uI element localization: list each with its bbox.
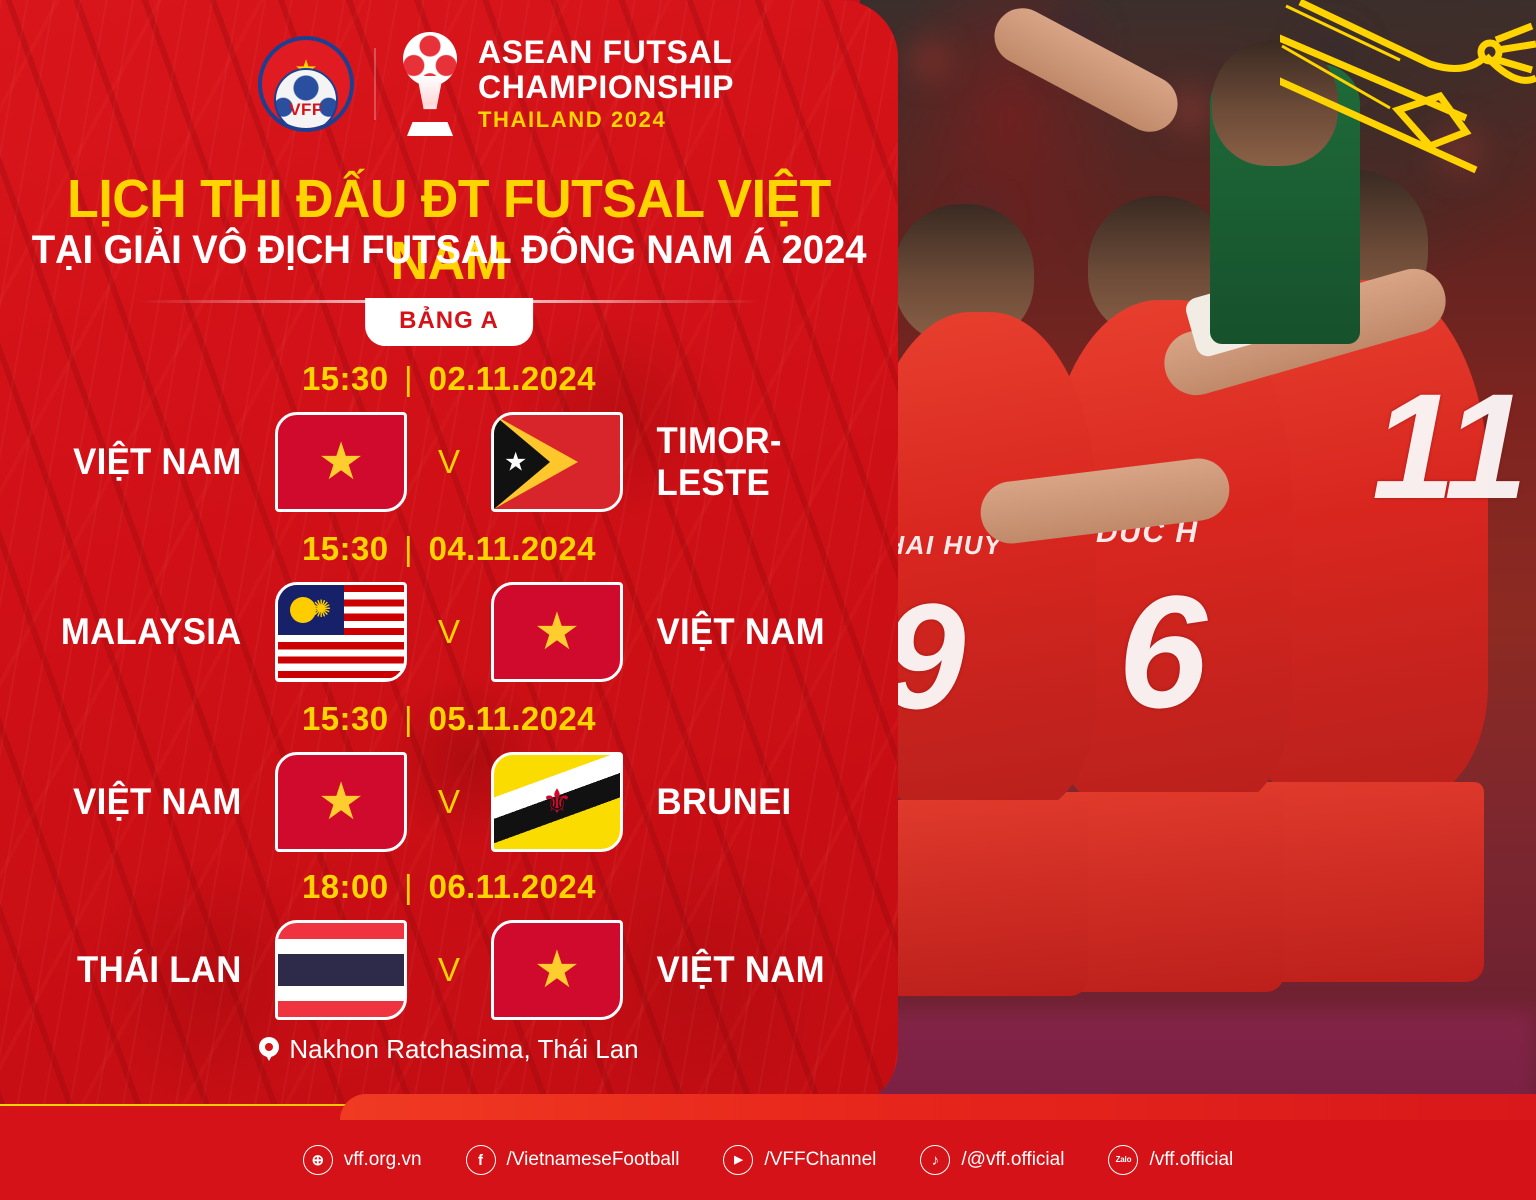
logo-divider [374, 48, 376, 120]
match-date: 06.11.2024 [429, 868, 596, 905]
footer: ⊕ vff.org.vn f /VietnameseFootball ▶ /VF… [0, 1080, 1536, 1200]
flag-vietnam: ★ [491, 582, 623, 682]
versus-label: V [433, 783, 465, 821]
venue-line: Nakhon Ratchasima, Thái Lan [0, 1034, 898, 1065]
group-badge: BẢNG A [365, 298, 533, 346]
brunei-crest-icon: ⚜ [542, 785, 572, 819]
facebook-icon: f [466, 1145, 496, 1175]
social-link-website[interactable]: ⊕ vff.org.vn [303, 1145, 422, 1175]
home-team-name: VIỆT NAM [7, 441, 241, 483]
match-separator: | [398, 700, 419, 737]
vietnam-star-icon: ★ [318, 776, 365, 828]
flag-malaysia: ✺ [275, 582, 407, 682]
vietnam-star-icon: ★ [534, 944, 581, 996]
match-row: 15:30 | 05.11.2024 VIỆT NAM ★ V ⚜ BRUNEI [0, 700, 898, 852]
match-datetime: 18:00 | 06.11.2024 [0, 868, 898, 906]
social-label-website: vff.org.vn [344, 1149, 422, 1171]
flag-vietnam: ★ [275, 412, 407, 512]
poster: 11 6 DUC H THAI HUY 9 [0, 0, 1536, 1200]
vietnam-star-icon: ★ [318, 436, 365, 488]
away-team-name: VIỆT NAM [656, 611, 890, 653]
match-datetime: 15:30 | 02.11.2024 [0, 360, 898, 398]
location-pin-icon [259, 1037, 279, 1063]
flag-vietnam: ★ [491, 920, 623, 1020]
player-shorts-right [1252, 782, 1484, 982]
championship-line-2: CHAMPIONSHIP [478, 70, 734, 105]
championship-logo: ASEAN FUTSAL CHAMPIONSHIP THAILAND 2024 [396, 32, 734, 136]
page-subtitle: TẠI GIẢI VÔ ĐỊCH FUTSAL ĐÔNG NAM Á 2024 [18, 228, 880, 273]
jersey-number-right: 11 [1372, 360, 1528, 533]
match-date: 04.11.2024 [429, 530, 596, 567]
away-team-name: BRUNEI [656, 781, 890, 823]
match-row: 15:30 | 04.11.2024 MALAYSIA ✺ V ★ VIỆT N… [0, 530, 898, 682]
malaysia-star-icon: ✺ [311, 598, 331, 622]
match-datetime: 15:30 | 04.11.2024 [0, 530, 898, 568]
match-separator: | [398, 530, 419, 567]
match-time: 18:00 [302, 868, 388, 905]
home-team-name: VIỆT NAM [7, 781, 241, 823]
social-link-youtube[interactable]: ▶ /VFFChannel [723, 1145, 876, 1175]
trophy-icon [396, 32, 464, 136]
championship-line-3: THAILAND 2024 [478, 107, 734, 133]
flag-thailand [275, 920, 407, 1020]
match-time: 15:30 [302, 700, 388, 737]
globe-icon: ⊕ [303, 1145, 333, 1175]
championship-line-1: ASEAN FUTSAL [478, 35, 734, 70]
social-link-zalo[interactable]: Zalo /vff.official [1108, 1145, 1233, 1175]
match-row: 15:30 | 02.11.2024 VIỆT NAM ★ V ★ TIMOR-… [0, 360, 898, 512]
jersey-number-middle: 6 [1118, 560, 1207, 744]
vff-logo-icon: ★ VFF [258, 36, 354, 132]
trophy-stem-icon [410, 76, 450, 122]
match-time: 15:30 [302, 360, 388, 397]
youtube-icon: ▶ [723, 1145, 753, 1175]
match-date: 05.11.2024 [429, 700, 596, 737]
zalo-icon: Zalo [1108, 1145, 1138, 1175]
home-team-name: THÁI LAN [7, 949, 241, 991]
vietnam-star-icon: ★ [534, 606, 581, 658]
player-shorts-left [872, 800, 1088, 996]
flag-timor-leste: ★ [491, 412, 623, 512]
versus-label: V [433, 443, 465, 481]
trophy-base-icon [407, 122, 453, 136]
flag-brunei: ⚜ [491, 752, 623, 852]
team-photo: 11 6 DUC H THAI HUY 9 [860, 0, 1536, 1200]
away-team-name: VIỆT NAM [656, 949, 890, 991]
social-label-zalo: /vff.official [1149, 1149, 1233, 1171]
social-label-tiktok: /@vff.official [961, 1149, 1064, 1171]
social-label-youtube: /VFFChannel [764, 1149, 876, 1171]
venue-text: Nakhon Ratchasima, Thái Lan [289, 1034, 638, 1065]
home-team-name: MALAYSIA [7, 611, 241, 653]
flag-vietnam: ★ [275, 752, 407, 852]
social-link-tiktok[interactable]: ♪ /@vff.official [920, 1145, 1064, 1175]
match-separator: | [398, 360, 419, 397]
match-separator: | [398, 868, 419, 905]
social-links: ⊕ vff.org.vn f /VietnameseFootball ▶ /VF… [0, 1106, 1536, 1200]
player-shorts-middle [1056, 792, 1284, 992]
away-team-name: TIMOR-LESTE [656, 420, 890, 504]
goalkeeper-head [1212, 40, 1338, 166]
header-logos: ★ VFF ASEAN FUTSAL CHAMPIONSHIP THAILAND… [258, 32, 734, 136]
match-datetime: 15:30 | 05.11.2024 [0, 700, 898, 738]
timor-star-icon: ★ [504, 447, 527, 478]
vff-logo-text: VFF [289, 100, 323, 120]
match-row: 18:00 | 06.11.2024 THÁI LAN V ★ VIỆT NAM [0, 868, 898, 1020]
tiktok-icon: ♪ [920, 1145, 950, 1175]
match-date: 02.11.2024 [429, 360, 596, 397]
versus-label: V [433, 951, 465, 989]
match-time: 15:30 [302, 530, 388, 567]
schedule-panel: ★ VFF ASEAN FUTSAL CHAMPIONSHIP THAILAND… [0, 0, 898, 1108]
social-label-facebook: /VietnameseFootball [507, 1149, 680, 1171]
social-link-facebook[interactable]: f /VietnameseFootball [466, 1145, 680, 1175]
versus-label: V [433, 613, 465, 651]
